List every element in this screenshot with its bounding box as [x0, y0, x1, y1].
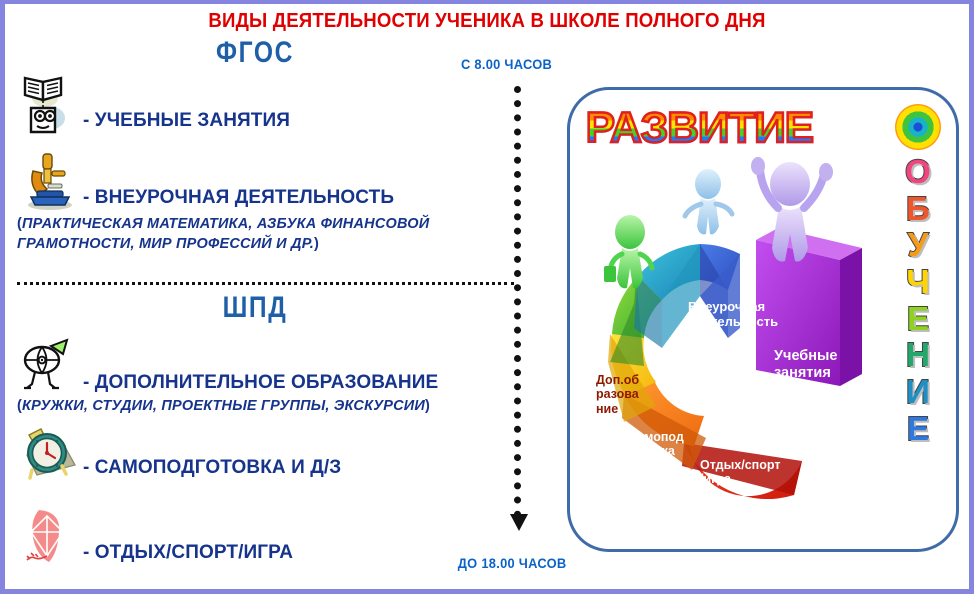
segment-vneuroch — [634, 244, 700, 348]
list-item-label: - САМОПОДГОТОВКА И Д/З — [83, 457, 341, 483]
vertical-letter: Ч — [906, 266, 929, 298]
list-item-label: - ВНЕУРОЧНАЯ ДЕЯТЕЛЬНОСТЬ — [83, 187, 394, 213]
microscope-icon — [19, 151, 81, 213]
page-title: ВИДЫ ДЕЯТЕЛЬНОСТИ УЧЕНИКА В ШКОЛЕ ПОЛНОГ… — [39, 10, 936, 33]
wordart-razvitie: РАЗВИТИЕ — [586, 104, 813, 153]
arrow-down-icon — [510, 514, 528, 531]
section-heading-fgos: ФГОС — [75, 36, 436, 70]
slide-canvas: ВИДЫ ДЕЯТЕЛЬНОСТИ УЧЕНИКА В ШКОЛЕ ПОЛНОГ… — [0, 0, 974, 594]
list-item-label: - ДОПОЛНИТЕЛЬНОЕ ОБРАЗОВАНИЕ — [83, 372, 438, 398]
timeline-arrow — [510, 86, 524, 546]
timeline-start-label: С 8.00 ЧАСОВ — [461, 56, 552, 72]
diagram-label-samopodgotovka: Самопод готовка и д/з — [628, 430, 700, 473]
vertical-letter: У — [908, 229, 929, 261]
timeline-end-label: ДО 18.00 ЧАСОВ — [458, 555, 567, 571]
paren-close: ) — [425, 398, 430, 414]
list-item-extracurricular: - ВНЕУРОЧНАЯ ДЕЯТЕЛЬНОСТЬ — [19, 151, 394, 213]
diagram-label-otdyh: Отдых/спорт /игра — [700, 458, 792, 487]
list-item-label: - УЧЕБНЫЕ ЗАНЯТИЯ — [83, 110, 290, 136]
figure-blue — [685, 169, 732, 234]
list-item-detail-additional-education: (КРУЖКИ, СТУДИИ, ПРОЕКТНЫЕ ГРУППЫ, ЭКСКУ… — [17, 396, 487, 416]
vertical-letter: Б — [906, 193, 930, 225]
list-item-lessons: - УЧЕБНЫЕ ЗАНЯТИЯ — [19, 74, 290, 136]
timeline-dotted-line — [514, 86, 521, 518]
detail-text: ПРАКТИЧЕСКАЯ МАТЕМАТИКА, АЗБУКА ФИНАНСОВ… — [17, 216, 429, 252]
section-heading-shpd: ШПД — [75, 291, 436, 325]
alarm-clock-icon — [19, 421, 81, 483]
arc-staircase-diagram: Учебные занятия Внеурочная деятельность … — [578, 148, 908, 548]
vertical-letter: О — [905, 156, 931, 188]
section-divider — [17, 282, 514, 285]
kite-icon — [19, 506, 81, 568]
left-content-column: ФГОС - — [5, 36, 520, 588]
list-item-additional-education: - ДОПОЛНИТЕЛЬНОЕ ОБРАЗОВАНИЕ — [19, 336, 438, 398]
vertical-letter: Е — [907, 303, 929, 335]
detail-text: КРУЖКИ, СТУДИИ, ПРОЕКТНЫЕ ГРУППЫ, ЭКСКУР… — [22, 398, 425, 414]
rainbow-ring-icon — [895, 104, 941, 150]
globe-rocket-icon — [19, 336, 81, 398]
open-book-reading-icon — [19, 74, 81, 136]
diagram-label-dopobrazovanie: Доп.об разова ние — [596, 373, 658, 416]
list-item-detail-extracurricular: (ПРАКТИЧЕСКАЯ МАТЕМАТИКА, АЗБУКА ФИНАНСО… — [17, 214, 487, 254]
diagram-label-vneurochnaya: Внеурочная деятельность — [688, 300, 792, 330]
right-illustration-panel: РАЗВИТИЕ О Б У Ч Е Н И Е — [567, 87, 959, 552]
list-item-rest-sport-play: - ОТДЫХ/СПОРТ/ИГРА — [19, 506, 293, 568]
vertical-letter: И — [906, 376, 930, 408]
list-item-label: - ОТДЫХ/СПОРТ/ИГРА — [83, 542, 293, 568]
vertical-letter: Н — [906, 339, 930, 371]
list-item-self-study: - САМОПОДГОТОВКА И Д/З — [19, 421, 341, 483]
vertical-letter: Е — [907, 413, 929, 445]
paren-close: ) — [314, 236, 319, 252]
diagram-label-uchebnye: Учебные занятия — [774, 348, 878, 381]
